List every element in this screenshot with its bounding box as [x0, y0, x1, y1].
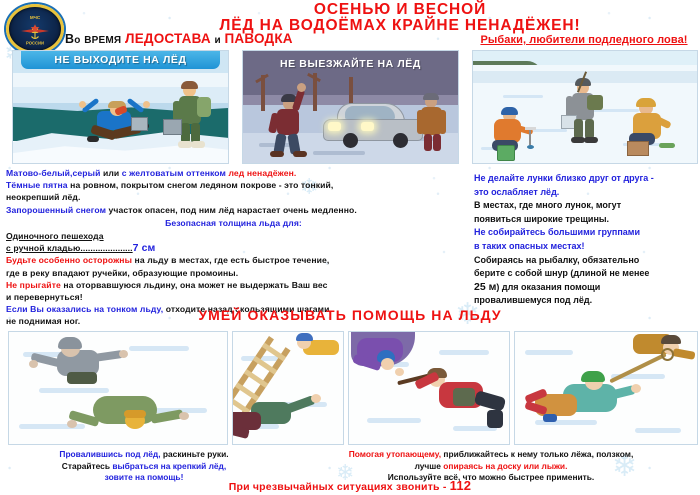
- fisher-line-1b: это ослабляет лёд.: [474, 186, 696, 200]
- panel3-tackle-box: [627, 141, 649, 156]
- season-subtitle: Во ВРЕМЯ ЛЕДОСТАВА и ПАВОДКА: [65, 31, 293, 46]
- pedestrian-thickness-row: с ручной кладью.....................7 см: [6, 242, 461, 254]
- rescue4-rescuer: [523, 374, 643, 430]
- subtitle-prefix: В: [65, 32, 74, 46]
- br-line-2: лучше опираясь на доску или лыжи.: [286, 461, 696, 473]
- svg-text:РОССИИ: РОССИИ: [26, 40, 44, 45]
- rescue-section-title: УМЕЙ ОКАЗЫВАТЬ ПОМОЩЬ НА ЛЬДУ: [0, 307, 700, 323]
- pedestrian-label: Одиночного пешехода: [6, 230, 104, 242]
- panel3-caught-fish: [659, 143, 675, 148]
- advice-line-3: Запорошенный снегом участок опасен, под …: [6, 204, 461, 216]
- fisher-line-4d: провалившемуся под лёд.: [474, 294, 696, 308]
- panel3-crouching-fisherman: [491, 107, 539, 155]
- svg-text:МЧС: МЧС: [30, 15, 41, 20]
- rescue4-pole-basket: [661, 348, 674, 361]
- rescue2-victim: [291, 332, 341, 356]
- panel3-walking-fisherman: [565, 77, 607, 143]
- panel3-sitting-fisherman: [625, 101, 681, 155]
- advice-line-1: Матово-белый,серый или с желтоватым отте…: [6, 167, 461, 179]
- do-not-walk-on-ice-illustration: НЕ ВЫХОДИТЕ НА ЛЁД: [12, 50, 229, 164]
- ladder-rescue-illustration: [232, 331, 344, 445]
- subtitle-o: о: [74, 35, 80, 46]
- fisher-line-1: Не делайте лунки близко друг от друга -: [474, 172, 696, 186]
- rescue1-grey-person: [29, 340, 125, 386]
- ice-fishermen-illustration: [472, 50, 698, 164]
- advice-line-6: Будьте особенно осторожны на льду в мест…: [6, 254, 461, 266]
- fisher-line-3b: в таких опасных местах!: [474, 240, 696, 254]
- spread-arms-on-ice-illustration: [8, 331, 228, 445]
- subtitle-vremya: ВРЕМЯ: [84, 35, 121, 46]
- rescue3-rescuer: [427, 368, 509, 432]
- advice-line-7: Не прыгайте на оторвавшуюся льдину, она …: [6, 279, 461, 291]
- bl-line-2: Старайтесь выбраться на крепкий лёд,: [4, 461, 284, 473]
- advice-line-7b: и перевернуться!: [6, 291, 461, 303]
- advice-line-2: Тёмные пятна на ровном, покрытом снегом …: [6, 179, 461, 191]
- panel2-car: [323, 103, 423, 145]
- do-not-drive-on-ice-illustration: НЕ ВЫЕЗЖАЙТЕ НА ЛЁД: [242, 50, 459, 164]
- rope-length-value: 25 м: [474, 281, 496, 293]
- panel3-green-bucket: [497, 145, 515, 161]
- subtitle-and: и: [214, 35, 220, 46]
- advice-line-2b: неокрепший лёд.: [6, 191, 461, 203]
- emergency-number: 112: [450, 478, 472, 493]
- fisher-line-2b: появиться широкие трещины.: [474, 213, 696, 227]
- rescue1-green-person: [69, 390, 199, 436]
- safe-thickness-heading: Безопасная толщина льда для:: [6, 217, 461, 229]
- br-line-1: Помогая утопающему, приближайтесь к нему…: [286, 449, 696, 461]
- subtitle-freeze-up: ЛЕДОСТАВА: [125, 31, 211, 46]
- emergency-call-line: При чрезвычайных ситуациях звонить - 112: [0, 478, 700, 493]
- panel3-backpack: [587, 95, 603, 110]
- panel1-label: НЕ ВЫХОДИТЕ НА ЛЁД: [21, 51, 220, 69]
- ski-pole-rescue-illustration: [514, 331, 698, 445]
- emergency-text: При чрезвычайных ситуациях звонить -: [229, 481, 447, 493]
- rescue3-victim: [351, 332, 421, 382]
- stick-rescue-illustration: [348, 331, 510, 445]
- fisher-line-4b: берите с собой шнур (длиной не менее: [474, 267, 696, 281]
- ice-quality-advice-text: Матово-белый,серый или с желтоватым отте…: [6, 167, 461, 328]
- subtitle-flood: ПАВОДКА: [225, 31, 293, 46]
- rescue2-rescuer: [232, 398, 327, 442]
- bl-line-1: Провалившись под лёд, раскиньте руки.: [4, 449, 284, 461]
- fishermen-advice-text: Не делайте лунки близко друг от друга - …: [474, 172, 696, 308]
- fishermen-heading: Рыбаки, любители подледного лова!: [470, 34, 698, 46]
- fisher-line-4c: 25 м) для оказания помощи: [474, 281, 696, 295]
- mchs-emblem-graphic: МЧС РОССИИ: [15, 11, 55, 47]
- panel2-label: НЕ ВЫЕЗЖАЙТЕ НА ЛЁД: [243, 55, 458, 73]
- thickness-value: 7 см: [133, 242, 156, 254]
- panel1-standing-person: [169, 83, 217, 149]
- fisher-line-3: Не собирайтесь большими группами: [474, 226, 696, 240]
- poster-title: ОСЕНЬЮ И ВЕСНОЙ ЛЁД НА ВОДОЁМАХ КРАЙНЕ Н…: [120, 2, 680, 34]
- fisher-line-4: Собираясь на рыбалку, обязательно: [474, 254, 696, 268]
- advice-line-6b: где в реку впадают ручейки, образующие п…: [6, 267, 461, 279]
- mchs-emblem: МЧС РОССИИ: [6, 4, 64, 54]
- fisher-line-2: В местах, где много лунок, могут: [474, 199, 696, 213]
- rescue3-backpack: [453, 388, 475, 406]
- panel1-jumping-person: [79, 101, 153, 155]
- poster-title-line1: ОСЕНЬЮ И ВЕСНОЙ: [120, 2, 680, 18]
- panel2-waving-person: [269, 93, 315, 155]
- panel2-standing-person: [415, 95, 449, 153]
